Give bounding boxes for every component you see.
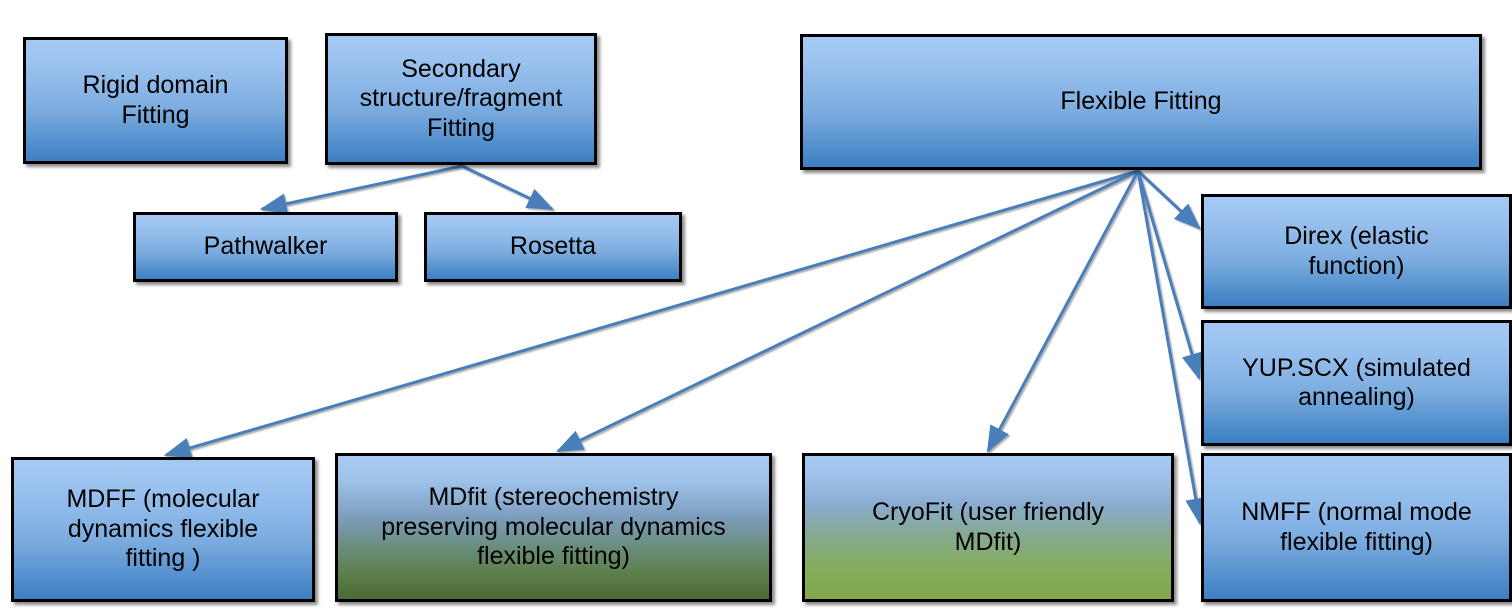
- node-label-line: Direx (elastic: [1284, 222, 1428, 252]
- node-label: NMFF (normal modeflexible fitting): [1241, 498, 1472, 557]
- node-label-line: Rigid domain: [83, 71, 229, 101]
- connector-flexible-to-yupscx: [1138, 171, 1199, 378]
- node-label: Rigid domainFitting: [83, 71, 229, 130]
- node-label-line: CryoFit (user friendly: [872, 498, 1104, 528]
- node-label-line: fitting ): [66, 544, 259, 574]
- node-label-line: Flexible Fitting: [1060, 87, 1221, 117]
- node-label: Flexible Fitting: [1060, 87, 1221, 117]
- node-label-line: Secondary: [360, 55, 563, 85]
- node-label-line: dynamics flexible: [66, 515, 259, 545]
- diagram-canvas: Rigid domainFittingSecondarystructure/fr…: [0, 0, 1512, 610]
- node-label-line: YUP.SCX (simulated: [1242, 354, 1471, 384]
- node-label-line: Fitting: [83, 101, 229, 131]
- node-cryofit[interactable]: CryoFit (user friendlyMDfit): [802, 453, 1174, 602]
- node-label: YUP.SCX (simulatedannealing): [1242, 354, 1471, 413]
- node-rigid-domain-fitting[interactable]: Rigid domainFitting: [23, 37, 288, 164]
- connector-secondary-to-pathwalker: [262, 166, 462, 209]
- node-flexible-fitting[interactable]: Flexible Fitting: [800, 34, 1482, 170]
- node-label-line: flexible fitting): [1241, 528, 1472, 558]
- node-secondary-structure-fragment-fitting[interactable]: Secondarystructure/fragmentFitting: [325, 33, 597, 165]
- node-rosetta[interactable]: Rosetta: [424, 212, 682, 282]
- node-label: Secondarystructure/fragmentFitting: [360, 55, 563, 144]
- node-label: Direx (elasticfunction): [1284, 222, 1428, 281]
- node-pathwalker[interactable]: Pathwalker: [133, 212, 398, 282]
- node-label-line: MDFF (molecular: [66, 485, 259, 515]
- node-label-line: Pathwalker: [204, 232, 328, 262]
- node-label-line: function): [1284, 252, 1428, 282]
- node-label: CryoFit (user friendlyMDfit): [872, 498, 1104, 557]
- node-label-line: structure/fragment: [360, 84, 563, 114]
- node-label: Rosetta: [510, 232, 596, 262]
- connector-flexible-to-direx: [1138, 171, 1199, 228]
- node-mdfit[interactable]: MDfit (stereochemistrypreserving molecul…: [335, 453, 772, 602]
- node-label-line: flexible fitting): [381, 542, 726, 572]
- node-label: MDfit (stereochemistrypreserving molecul…: [381, 483, 726, 572]
- node-label: Pathwalker: [204, 232, 328, 262]
- node-label-line: annealing): [1242, 383, 1471, 413]
- node-nmff[interactable]: NMFF (normal modeflexible fitting): [1201, 453, 1512, 602]
- node-label-line: MDfit (stereochemistry: [381, 483, 726, 513]
- node-label: MDFF (moleculardynamics flexiblefitting …: [66, 485, 259, 574]
- connector-flexible-to-cryofit: [988, 171, 1138, 451]
- node-mdff[interactable]: MDFF (moleculardynamics flexiblefitting …: [11, 457, 315, 602]
- node-label-line: MDfit): [872, 528, 1104, 558]
- node-direx[interactable]: Direx (elasticfunction): [1201, 194, 1512, 309]
- node-label-line: preserving molecular dynamics: [381, 513, 726, 543]
- node-yup-scx[interactable]: YUP.SCX (simulatedannealing): [1201, 320, 1512, 446]
- node-label-line: NMFF (normal mode: [1241, 498, 1472, 528]
- connector-secondary-to-rosetta: [462, 166, 552, 209]
- node-label-line: Fitting: [360, 114, 563, 144]
- node-label-line: Rosetta: [510, 232, 596, 262]
